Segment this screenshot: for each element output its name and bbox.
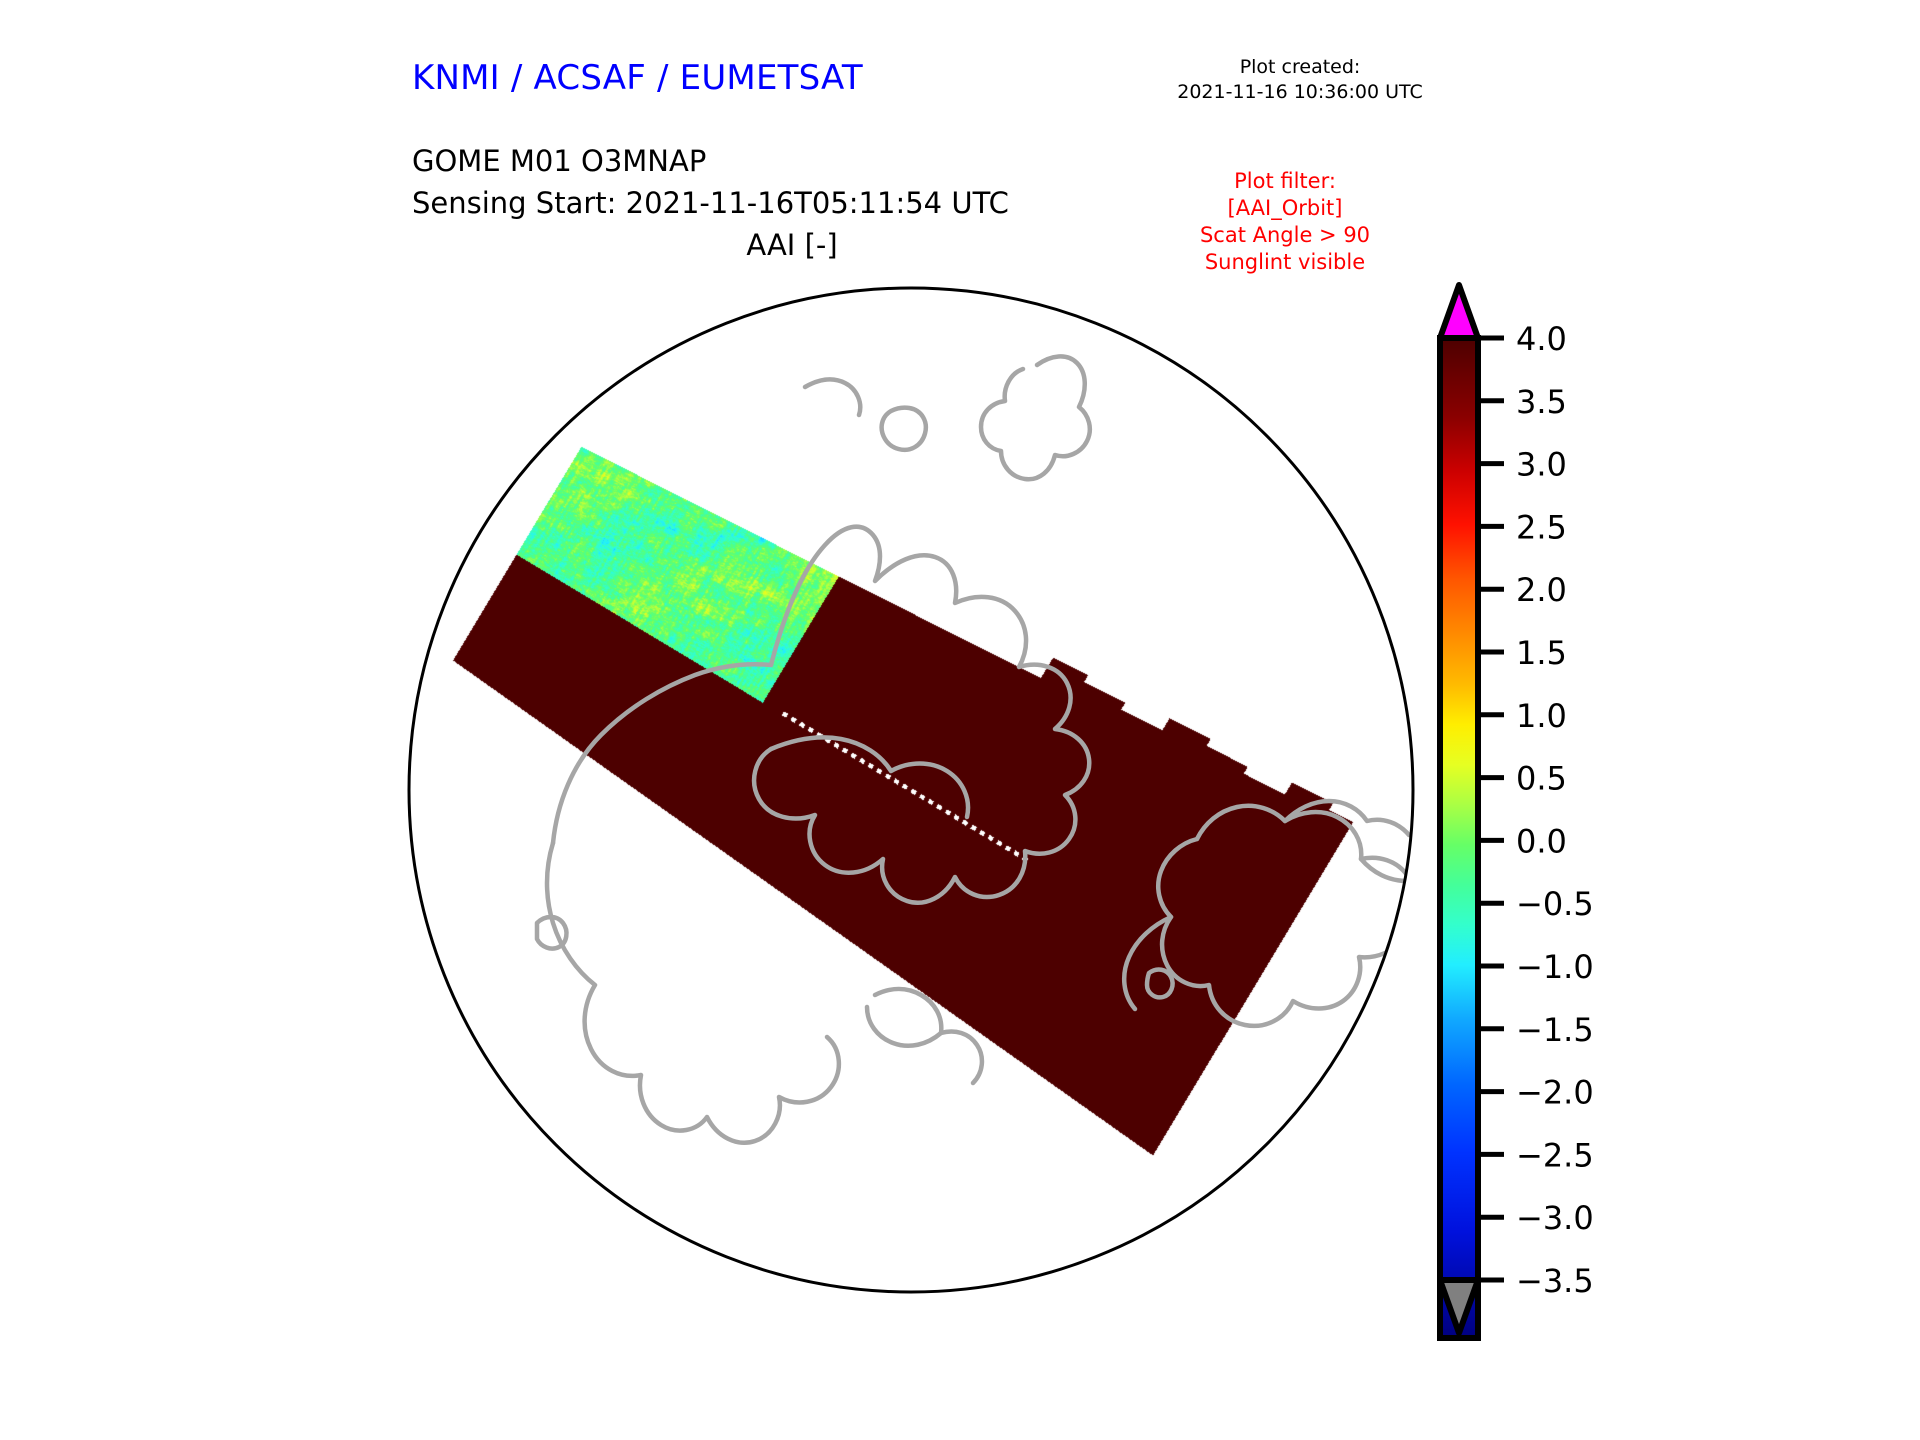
map-globe — [405, 283, 1417, 1297]
colorbar-gradient-bar — [1440, 338, 1478, 1338]
colorbar: 4.03.53.02.52.01.51.00.50.0−0.5−1.0−1.5−… — [1430, 280, 1760, 1350]
plot-filter-scat-angle: Scat Angle > 90 — [1130, 222, 1440, 249]
colorbar-svg: 4.03.53.02.52.01.51.00.50.0−0.5−1.0−1.5−… — [1430, 280, 1760, 1350]
sensing-start: Sensing Start: 2021-11-16T05:11:54 UTC — [412, 182, 1009, 224]
colorbar-tick-label: −1.5 — [1516, 1011, 1594, 1049]
colorbar-tick-label: 0.0 — [1516, 822, 1567, 860]
colorbar-tick-label: 1.0 — [1516, 697, 1567, 735]
plot-filter-sunglint: Sunglint visible — [1130, 249, 1440, 276]
colorbar-tick-label: 2.0 — [1516, 571, 1567, 609]
colorbar-over-arrow — [1440, 285, 1478, 338]
plot-canvas: KNMI / ACSAF / EUMETSAT Plot created: 20… — [0, 0, 1920, 1440]
colorbar-tick-label: 2.5 — [1516, 508, 1567, 546]
product-title-block: GOME M01 O3MNAP Sensing Start: 2021-11-1… — [412, 140, 1009, 224]
colorbar-tick-label: −1.0 — [1516, 948, 1594, 986]
colorbar-tick-label: −2.0 — [1516, 1074, 1594, 1112]
colorbar-tick-label: −0.5 — [1516, 885, 1594, 923]
product-name: GOME M01 O3MNAP — [412, 140, 1009, 182]
colorbar-tick-label: 3.5 — [1516, 383, 1567, 421]
plot-created-block: Plot created: 2021-11-16 10:36:00 UTC — [1160, 55, 1440, 105]
plot-created-time: 2021-11-16 10:36:00 UTC — [1160, 80, 1440, 105]
plot-filter-block: Plot filter: [AAI_Orbit] Scat Angle > 90… — [1130, 168, 1440, 276]
variable-title: AAI [-] — [412, 228, 1172, 262]
colorbar-tick-label: 0.5 — [1516, 760, 1567, 798]
colorbar-tick-label: −3.0 — [1516, 1199, 1594, 1237]
colorbar-tick-label: −3.5 — [1516, 1262, 1594, 1300]
colorbar-ticks: 4.03.53.02.52.01.51.00.50.0−0.5−1.0−1.5−… — [1478, 320, 1594, 1300]
colorbar-tick-label: 3.0 — [1516, 446, 1567, 484]
colorbar-tick-label: −2.5 — [1516, 1136, 1594, 1174]
plot-filter-dataset: [AAI_Orbit] — [1130, 195, 1440, 222]
colorbar-tick-label: 1.5 — [1516, 634, 1567, 672]
plot-filter-label: Plot filter: — [1130, 168, 1440, 195]
organisation-title: KNMI / ACSAF / EUMETSAT — [412, 58, 863, 98]
colorbar-tick-label: 4.0 — [1516, 320, 1567, 358]
map-svg — [405, 283, 1417, 1297]
plot-created-label: Plot created: — [1160, 55, 1440, 80]
